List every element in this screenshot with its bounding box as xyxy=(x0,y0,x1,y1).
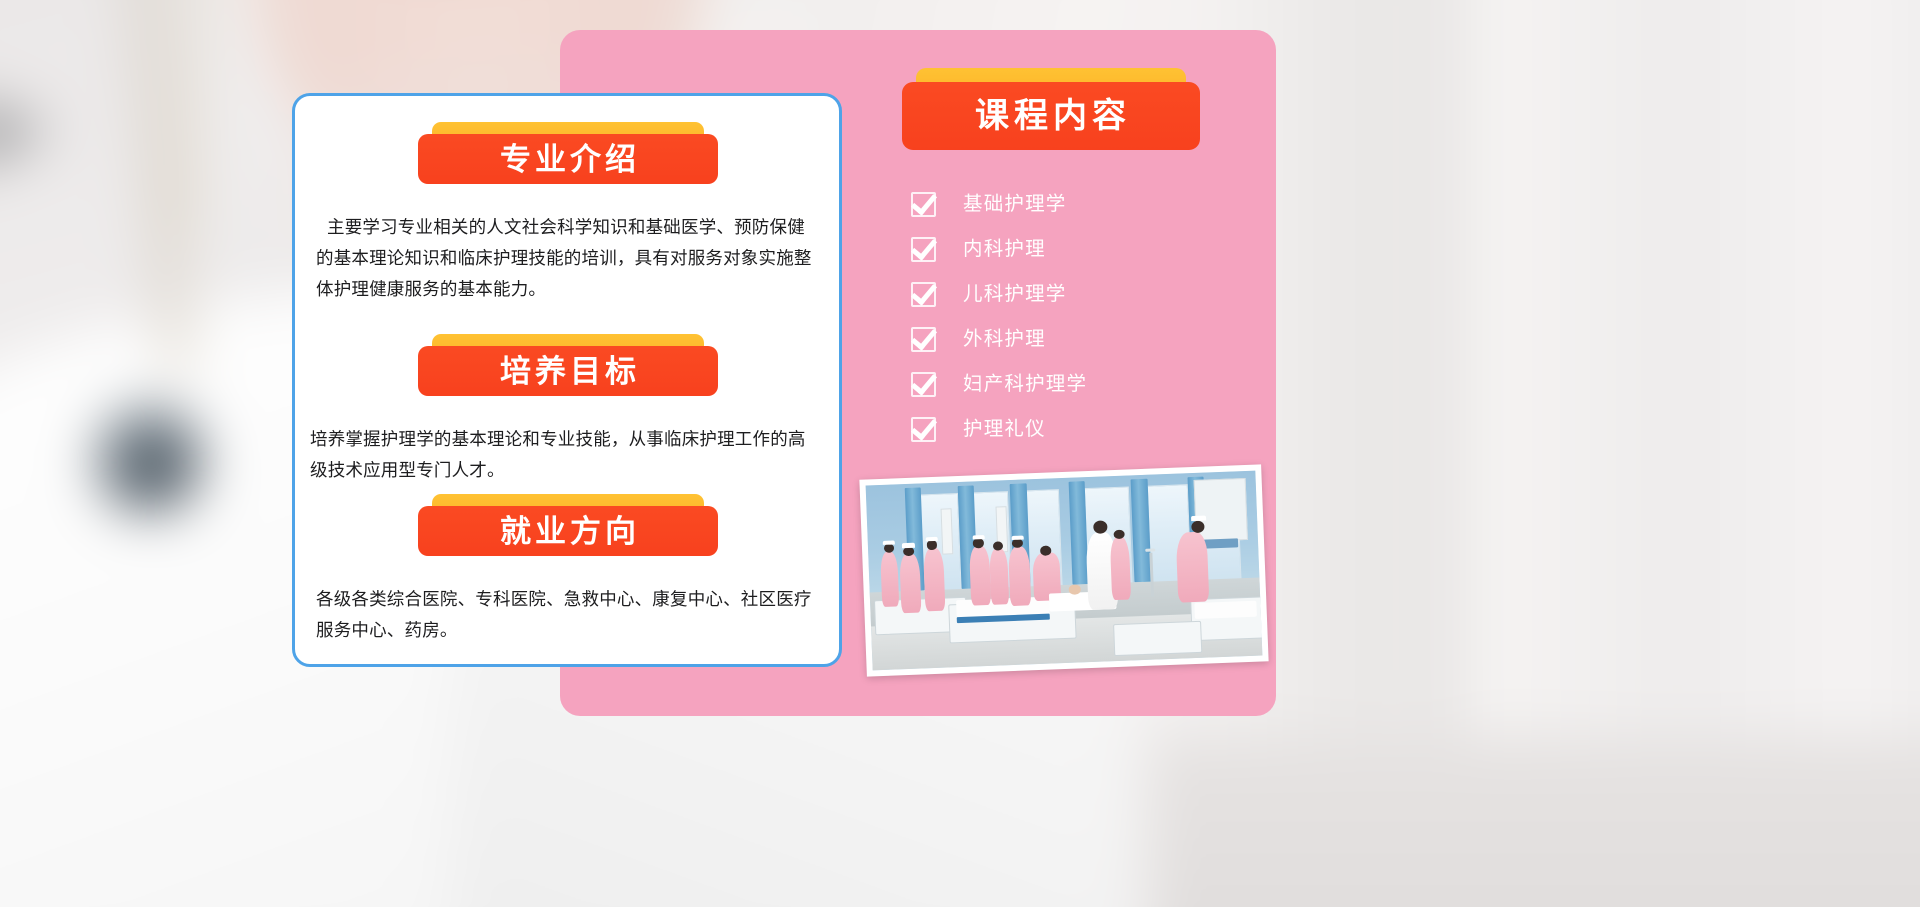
course-label: 儿科护理学 xyxy=(963,285,1067,305)
paragraph-career-direction: 各级各类综合医院、专科医院、急救中心、康复中心、社区医疗服务中心、药房。 xyxy=(316,584,818,646)
banner-label: 就业方向 xyxy=(496,516,640,547)
course-label: 护理礼仪 xyxy=(963,420,1046,440)
list-item: 妇产科护理学 xyxy=(911,362,1241,407)
list-item: 儿科护理学 xyxy=(911,272,1241,317)
course-list: 基础护理学 内科护理 儿科护理学 外科护理 妇产科护理学 护理礼仪 xyxy=(911,182,1241,452)
list-item: 内科护理 xyxy=(911,227,1241,272)
banner-label: 培养目标 xyxy=(496,356,640,387)
course-label: 妇产科护理学 xyxy=(963,375,1087,395)
course-label: 内科护理 xyxy=(963,240,1046,260)
banner-label: 课程内容 xyxy=(971,99,1131,133)
banner-plate: 培养目标 xyxy=(418,346,718,396)
banner-plate: 课程内容 xyxy=(902,82,1200,150)
banner-course-content: 课程内容 xyxy=(902,68,1200,150)
list-item: 基础护理学 xyxy=(911,182,1241,227)
list-item: 外科护理 xyxy=(911,317,1241,362)
nursing-training-photo xyxy=(859,464,1268,676)
checkbox-checked-icon xyxy=(911,282,936,307)
banner-major-introduction: 专业介绍 xyxy=(418,122,718,184)
paragraph-major-introduction: 主要学习专业相关的人文社会科学知识和基础医学、预防保健的基本理论知识和临床护理技… xyxy=(316,212,818,305)
banner-training-goal: 培养目标 xyxy=(418,334,718,396)
banner-label: 专业介绍 xyxy=(496,144,640,175)
banner-plate: 就业方向 xyxy=(418,506,718,556)
poster-stage: 专业介绍 主要学习专业相关的人文社会科学知识和基础医学、预防保健的基本理论知识和… xyxy=(0,0,1920,907)
banner-career-direction: 就业方向 xyxy=(418,494,718,556)
checkbox-checked-icon xyxy=(911,192,936,217)
banner-plate: 专业介绍 xyxy=(418,134,718,184)
paragraph-training-goal: 培养掌握护理学的基本理论和专业技能，从事临床护理工作的高级技术应用型专门人才。 xyxy=(310,424,812,486)
checkbox-checked-icon xyxy=(911,237,936,262)
course-label: 基础护理学 xyxy=(963,195,1067,215)
list-item: 护理礼仪 xyxy=(911,407,1241,452)
checkbox-checked-icon xyxy=(911,417,936,442)
course-label: 外科护理 xyxy=(963,330,1046,350)
checkbox-checked-icon xyxy=(911,327,936,352)
checkbox-checked-icon xyxy=(911,372,936,397)
